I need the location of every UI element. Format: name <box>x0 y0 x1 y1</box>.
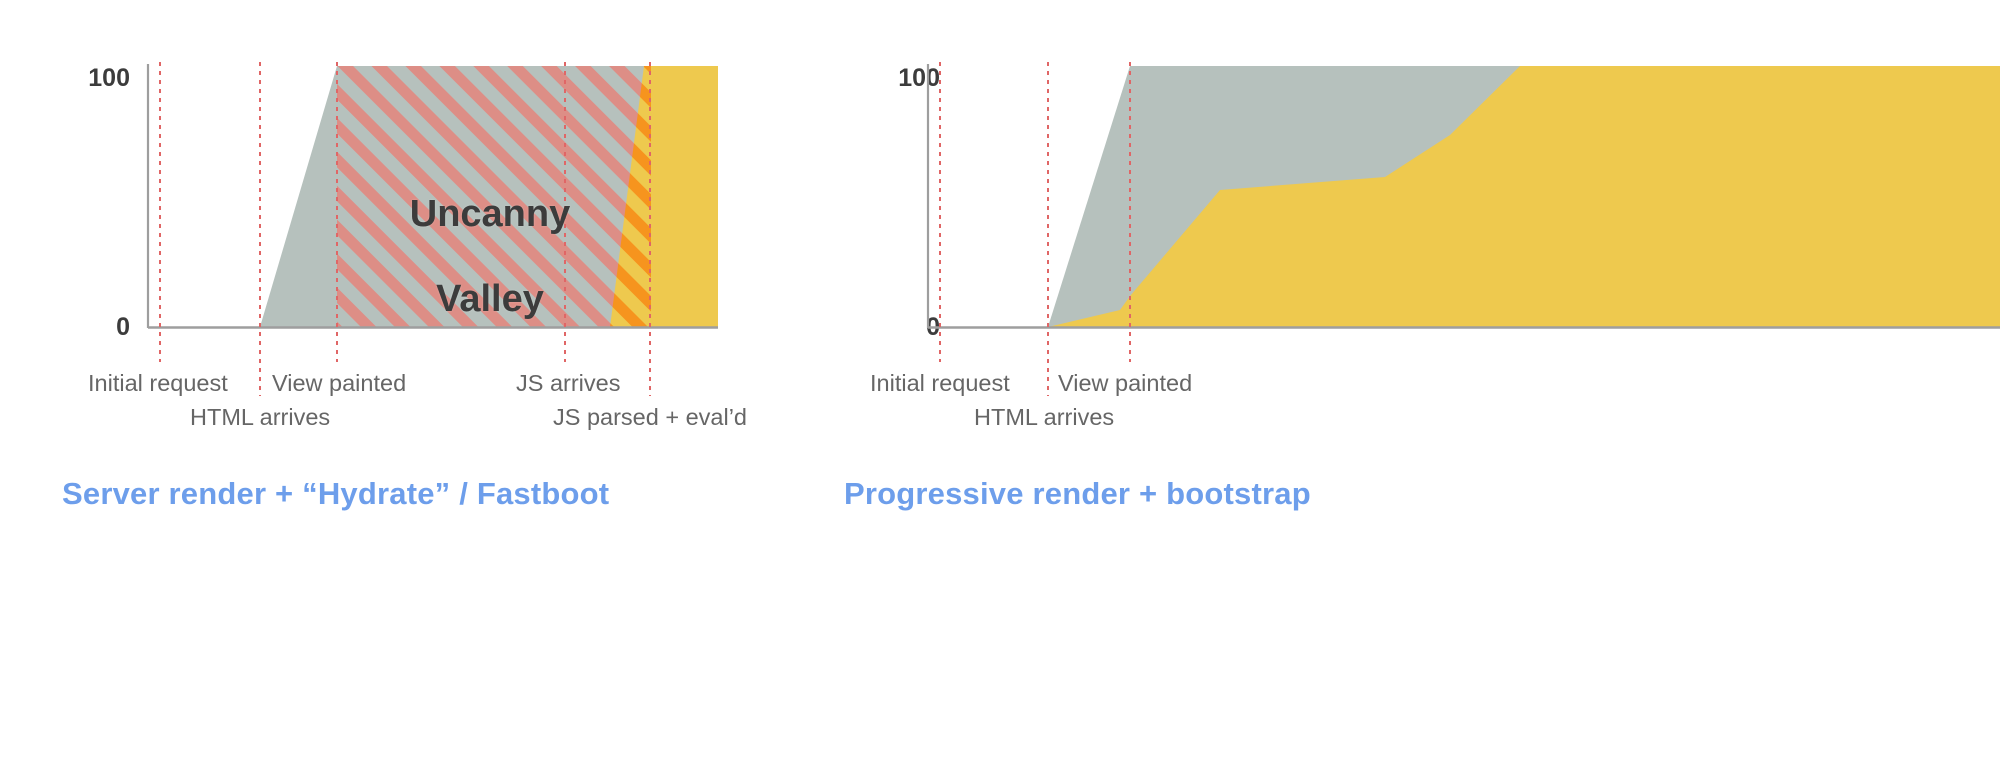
slide-canvas: 100 0 <box>0 0 2000 758</box>
uncanny-valley-annotation: Uncanny Valley <box>337 150 643 363</box>
event-label-initial-request-right: Initial request <box>870 370 1010 397</box>
chart-panel-progressive-render: 100 0 Initial request HTML arrives View … <box>830 0 2000 758</box>
chart-caption-right: Progressive render + bootstrap <box>844 476 1311 512</box>
event-label-html-arrives-right: HTML arrives <box>974 404 1114 431</box>
event-label-initial-request-left: Initial request <box>88 370 228 397</box>
event-label-view-painted-left: View painted <box>272 370 406 397</box>
event-label-js-arrives-left: JS arrives <box>516 370 620 397</box>
event-label-js-parsed-left: JS parsed + eval’d <box>553 404 747 431</box>
uncanny-valley-line1: Uncanny <box>337 193 643 236</box>
area-yellow-left <box>651 66 718 327</box>
event-label-html-arrives-left: HTML arrives <box>190 404 330 431</box>
event-label-view-painted-right: View painted <box>1058 370 1192 397</box>
chart-caption-left: Server render + “Hydrate” / Fastboot <box>62 476 609 512</box>
uncanny-valley-line2: Valley <box>337 278 643 321</box>
